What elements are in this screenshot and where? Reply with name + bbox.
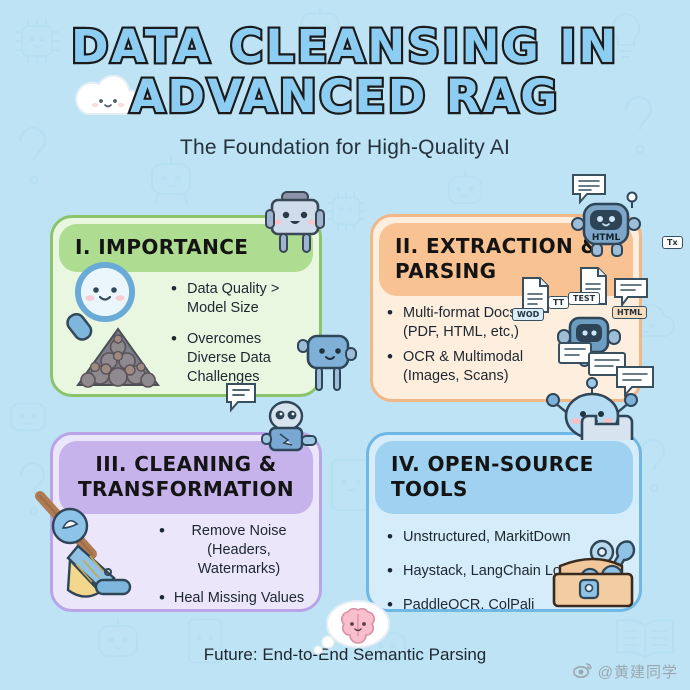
speech-bubble-icon — [612, 276, 650, 308]
weibo-logo-icon — [573, 662, 593, 682]
robot-mascot-laptop — [262, 184, 328, 260]
card-tools-header: IV. OPEN-SOURCE TOOLS — [375, 441, 633, 514]
tag-test: TEST — [568, 292, 600, 305]
poster-subtitle: The Foundation for High-Quality AI — [0, 136, 690, 160]
robot-legs-icon — [578, 412, 636, 440]
list-item: Remove Noise (Headers, Watermarks) — [159, 522, 305, 579]
tag-html: HTML — [612, 306, 647, 319]
robot-doodle-icon — [438, 165, 492, 215]
coal-pile-icon — [70, 325, 166, 391]
speech-bubble-icon — [570, 172, 608, 206]
title-line-1: DATA CLEANSING IN — [0, 22, 690, 72]
card-cleaning-bullets: Remove Noise (Headers, Watermarks) Heal … — [159, 522, 319, 612]
toolbox-icon — [546, 530, 650, 610]
robot-doodle-icon — [0, 390, 56, 444]
svg-text:HTML: HTML — [592, 233, 621, 243]
tag-txt: TT — [548, 296, 569, 309]
watermark: @黄建同学 — [573, 661, 678, 682]
poster-title: DATA CLEANSING IN ADVANCED RAG The Found… — [0, 22, 690, 160]
broom-icon — [30, 488, 150, 606]
title-line-2: ADVANCED RAG — [0, 72, 690, 122]
robot-mascot-spray — [258, 398, 328, 456]
speech-bubble-icon — [614, 364, 656, 398]
watermark-handle: @黄建同学 — [598, 661, 678, 682]
speech-bubble-icon — [224, 380, 258, 414]
infographic-poster: DATA CLEANSING IN ADVANCED RAG The Found… — [0, 0, 690, 690]
brain-thought-bubble-icon — [310, 598, 396, 658]
tag-wod: WOD — [512, 308, 544, 321]
card-tools-title: IV. OPEN-SOURCE TOOLS — [391, 452, 617, 502]
list-item: Data Quality > Model Size — [171, 280, 305, 318]
list-item: Overcomes Diverse Data Challenges — [171, 330, 305, 387]
tag-tx: Tx — [662, 236, 683, 249]
robot-mascot-waving — [296, 326, 358, 400]
list-item: OCR & Multimodal (Images, Scans) — [387, 348, 553, 386]
list-item: Heal Missing Values & Standtraize — [159, 589, 305, 612]
